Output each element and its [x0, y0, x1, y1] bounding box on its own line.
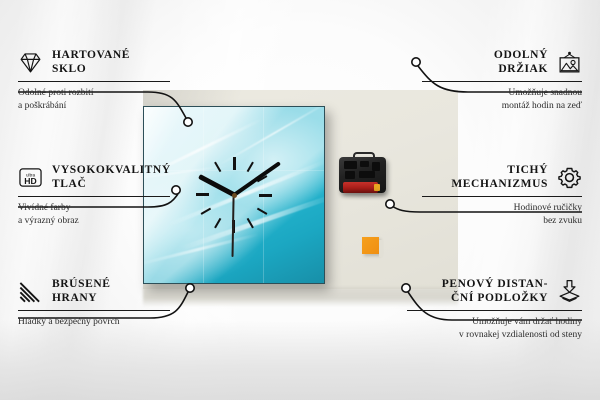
- callout-title-line1: TICHÝ: [451, 163, 548, 177]
- leader-node-polished-edges: [186, 284, 194, 292]
- callout-silent-mechanism: TICHÝ MECHANIZMUS Hodinové ručičky bez z…: [422, 163, 582, 227]
- callout-rule: [18, 196, 170, 197]
- callout-tempered-glass: HARTOVANÉ SKLO Odolné proti rozbití a po…: [18, 48, 170, 112]
- infographic-canvas: HARTOVANÉ SKLO Odolné proti rozbití a po…: [0, 0, 600, 400]
- callout-desc-line2: a výrazný obraz: [18, 215, 170, 228]
- callout-desc-line1: Hladký a bezpečný povrch: [18, 316, 170, 329]
- callout-title-line2: SKLO: [52, 62, 130, 76]
- press-layers-icon: [557, 279, 582, 304]
- diagonal-hatch-icon: [18, 279, 43, 304]
- callout-rule: [407, 310, 582, 311]
- leader-node-durable-hanger: [412, 58, 420, 66]
- callout-title-line1: VYSOKOKVALITNÝ: [52, 163, 171, 177]
- callout-rule: [18, 81, 170, 82]
- callout-desc-line2: a poškrábání: [18, 100, 170, 113]
- leader-node-tempered-glass: [184, 118, 192, 126]
- callout-desc-line1: Hodinové ručičky: [422, 202, 582, 215]
- leader-node-hd-print: [172, 186, 180, 194]
- callout-desc-line1: Vivídné farby: [18, 202, 170, 215]
- leader-node-silent-mechanism: [386, 200, 394, 208]
- callout-title-line2: HRANY: [52, 291, 111, 305]
- callout-title-line1: PENOVÝ DISTAN-: [442, 277, 548, 291]
- callout-hd-print: ultra HD VYSOKOKVALITNÝ TLAČ Vivídné far…: [18, 163, 170, 227]
- callout-durable-hanger: ODOLNÝ DRŽIAK Umožňuje snadnou montáž ho…: [422, 48, 582, 112]
- callout-rule: [422, 196, 582, 197]
- callout-desc-line2: montáž hodin na zeď: [422, 100, 582, 113]
- callout-desc-line2: bez zvuku: [422, 215, 582, 228]
- callout-rule: [422, 81, 582, 82]
- gear-icon: [557, 165, 582, 190]
- callout-desc-line2: v rovnakej vzdialenosti od steny: [407, 329, 582, 342]
- callout-desc-line1: Umožňuje snadnou: [422, 87, 582, 100]
- diamond-icon: [18, 50, 43, 75]
- callout-polished-edges: BRÚSENÉ HRANY Hladký a bezpečný povrch: [18, 277, 170, 329]
- callout-title-line2: DRŽIAK: [494, 62, 548, 76]
- callout-title-line1: HARTOVANÉ: [52, 48, 130, 62]
- callout-desc-line1: Odolné proti rozbití: [18, 87, 170, 100]
- callout-title-line1: BRÚSENÉ: [52, 277, 111, 291]
- hanging-picture-icon: [557, 50, 582, 75]
- callout-title-line2: MECHANIZMUS: [451, 177, 548, 191]
- callout-title-line2: ČNÍ PODLOŽKY: [442, 291, 548, 305]
- callout-title-line2: TLAČ: [52, 177, 171, 191]
- callout-rule: [18, 310, 170, 311]
- callout-foam-spacers: PENOVÝ DISTAN- ČNÍ PODLOŽKY Umožňuje vám…: [407, 277, 582, 341]
- ultra-hd-icon: ultra HD: [18, 165, 43, 190]
- callout-desc-line1: Umožňuje vám držať hodiny: [407, 316, 582, 329]
- callout-title-line1: ODOLNÝ: [494, 48, 548, 62]
- ultra-hd-icon-main: HD: [24, 175, 36, 185]
